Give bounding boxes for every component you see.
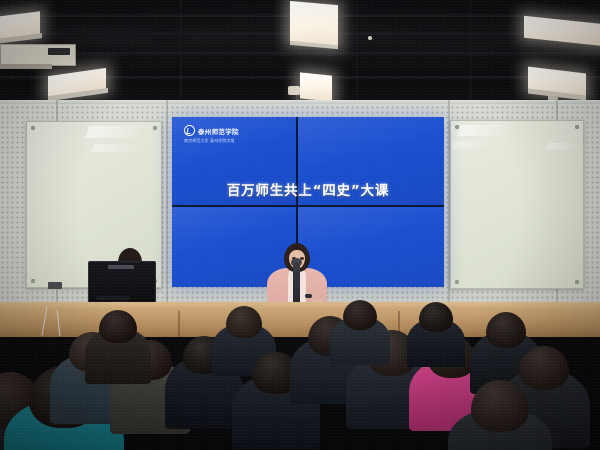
ceiling-beam — [470, 0, 472, 104]
whiteboard-marker-tray — [48, 282, 62, 289]
slide-logo: 泰州师范学院 南京师范大学 泰州学院学报 — [184, 125, 239, 144]
whiteboard-glare — [85, 126, 144, 138]
whiteboard-bolt — [575, 280, 579, 284]
logo-primary-row: 泰州师范学院 — [184, 125, 239, 136]
keyboard[interactable] — [96, 296, 130, 300]
whiteboard-bolt — [455, 125, 459, 129]
ceiling-beam — [180, 0, 182, 104]
glass-whiteboard-right — [450, 120, 584, 289]
ceiling-beam — [0, 52, 600, 55]
university-crest-icon — [184, 125, 195, 136]
ceiling-beam — [356, 0, 358, 104]
whiteboard-bolt — [575, 125, 579, 129]
presenter-wrist-watch — [305, 294, 312, 298]
whiteboard-bolt — [153, 126, 157, 130]
ceiling — [0, 0, 600, 104]
ceiling-sensor-icon — [368, 36, 372, 40]
light-housing-side — [0, 64, 52, 69]
audience-member-14-head — [486, 312, 526, 348]
wall-seam — [166, 100, 168, 330]
slide-title: 百万师生共上“四史”大课 — [172, 179, 444, 199]
panel-light — [290, 1, 338, 47]
whiteboard-glare — [91, 144, 140, 152]
ceiling-speaker-icon — [288, 86, 300, 95]
ac-vent — [48, 48, 70, 55]
lecture-hall-screenshot: 泰州师范学院 南京师范大学 泰州学院学报 百万师生共上“四史”大课 — [0, 0, 600, 450]
audience-member-16-head — [471, 380, 529, 432]
audience-member-13-head — [419, 302, 453, 332]
desk-seam — [178, 311, 180, 337]
slide-logo-subtitle: 南京师范大学 泰州学院学报 — [184, 138, 239, 144]
front-desk-top — [0, 302, 600, 311]
whiteboard-bolt — [455, 280, 459, 284]
audience-member-7-head — [226, 306, 262, 338]
ceiling-duct — [170, 30, 230, 42]
audience-member-5-head — [99, 310, 137, 343]
panel-light — [300, 72, 332, 101]
whiteboard-bolt — [31, 126, 35, 130]
whiteboard-bolt — [31, 279, 35, 283]
wall-trim — [0, 100, 600, 104]
video-wall-bezel-horizontal — [172, 205, 444, 207]
panel-light — [524, 16, 600, 46]
whiteboard-glare — [546, 143, 579, 150]
slide-logo-institution: 泰州师范学院 — [198, 126, 239, 136]
whiteboard-glare — [451, 141, 490, 149]
whiteboard-glare — [457, 125, 509, 136]
monitor-label-strip — [108, 265, 134, 269]
audience-member-11-head — [343, 300, 377, 330]
ceiling-duct — [62, 26, 152, 46]
audience-member-15-head — [519, 346, 569, 390]
